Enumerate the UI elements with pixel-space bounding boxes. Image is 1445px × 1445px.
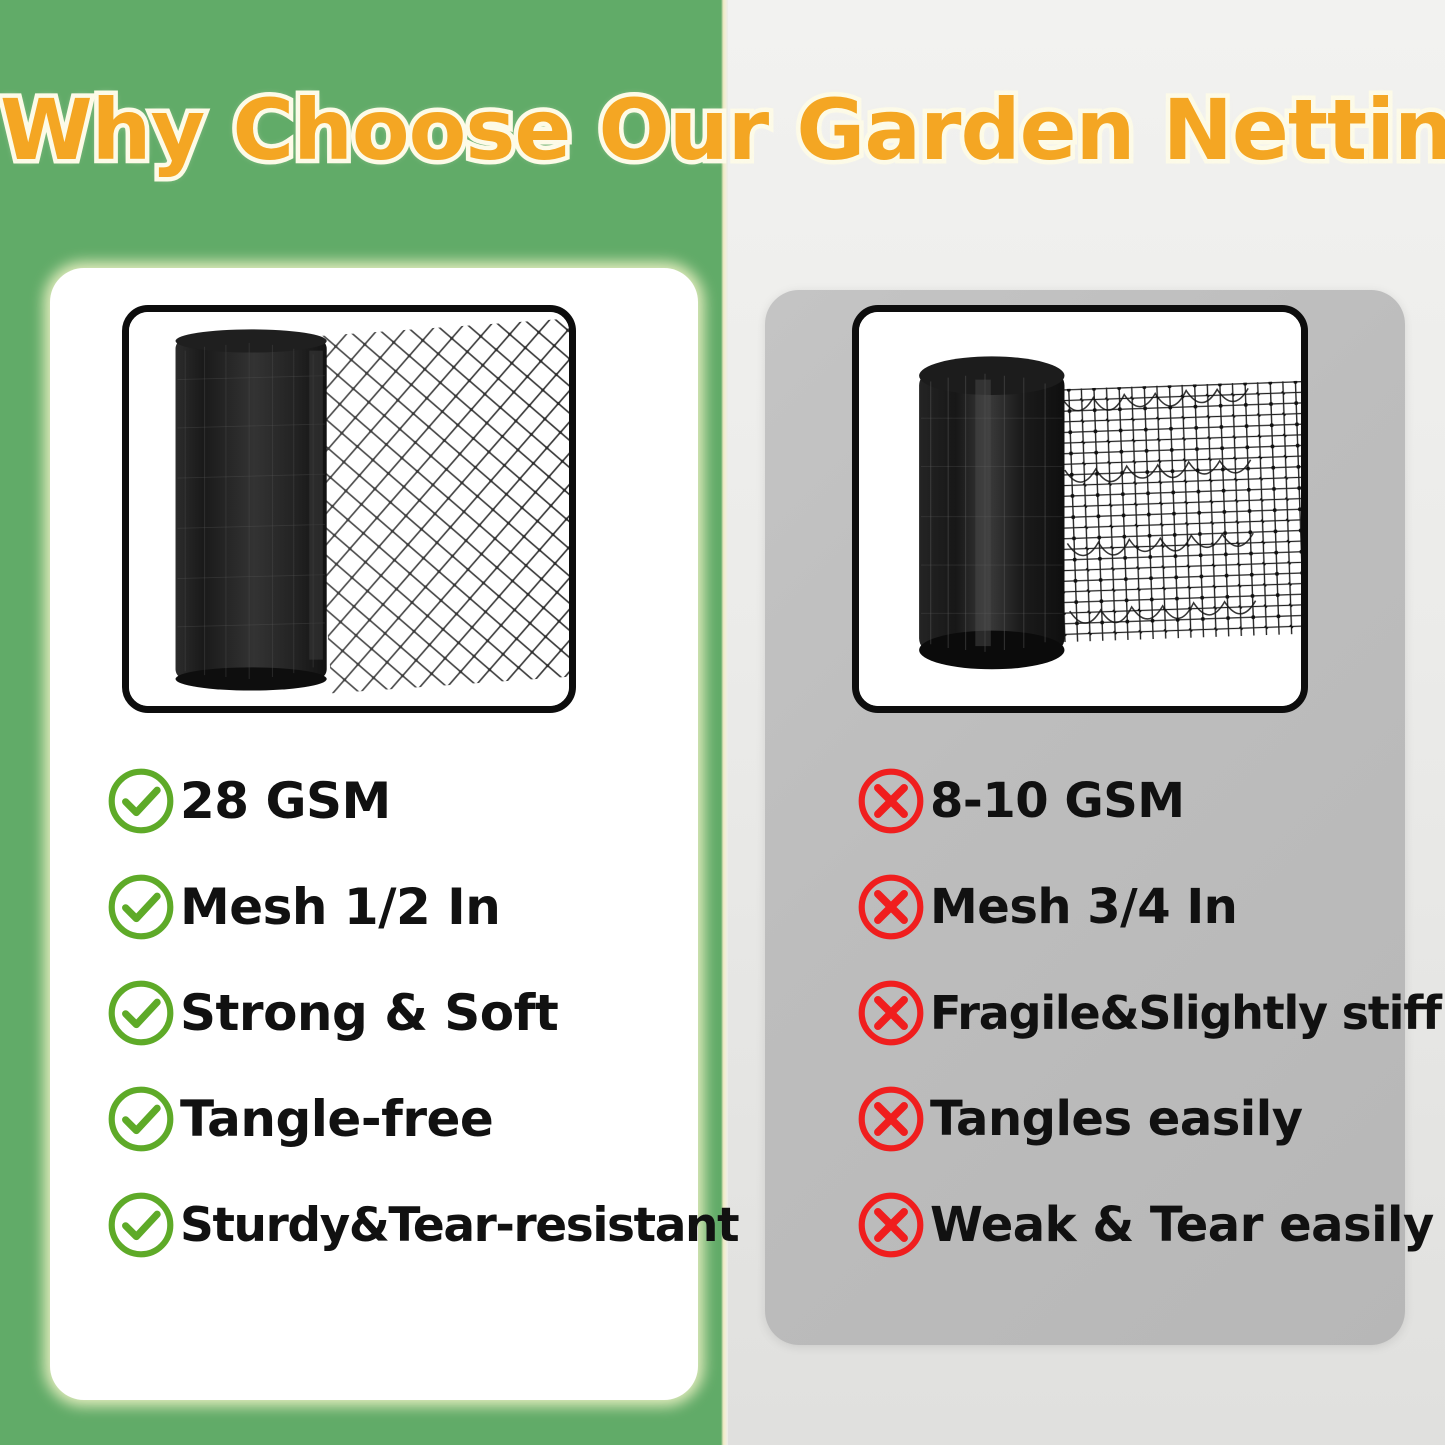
feature-label: Sturdy&Tear-resistant	[180, 1198, 738, 1253]
feature-label: Tangles easily	[930, 1091, 1302, 1147]
list-item: 8-10 GSM	[854, 748, 1414, 854]
check-circle-icon	[104, 870, 178, 944]
competitor-feature-list: 8-10 GSM Mesh 3/4 In Fragile&Slightly st…	[854, 748, 1414, 1278]
list-item: Tangle-free	[104, 1066, 704, 1172]
feature-label: Tangle-free	[180, 1090, 493, 1148]
our-product-feature-list: 28 GSM Mesh 1/2 In Strong & Soft Tangle-…	[104, 748, 704, 1278]
feature-label: Weak & Tear easily	[930, 1197, 1434, 1253]
check-circle-icon	[104, 1188, 178, 1262]
comparison-poster: Why Choose Our Garden Netting?	[0, 0, 1445, 1445]
cross-circle-icon	[854, 1188, 928, 1262]
cross-circle-icon	[854, 764, 928, 838]
feature-label: Fragile&Slightly stiff	[930, 986, 1441, 1040]
feature-label: Mesh 3/4 In	[930, 879, 1237, 935]
feature-label: 28 GSM	[180, 772, 391, 830]
competitor-product-netting-image	[859, 312, 1301, 706]
our-product-netting-image	[129, 312, 569, 706]
list-item: Weak & Tear easily	[854, 1172, 1414, 1278]
check-circle-icon	[104, 764, 178, 838]
list-item: Strong & Soft	[104, 960, 704, 1066]
page-title: Why Choose Our Garden Netting?	[0, 86, 1445, 175]
our-product-image-frame	[122, 305, 576, 713]
competitor-product-image-frame	[852, 305, 1308, 713]
list-item: Mesh 3/4 In	[854, 854, 1414, 960]
check-circle-icon	[104, 976, 178, 1050]
check-circle-icon	[104, 1082, 178, 1156]
feature-label: Strong & Soft	[180, 984, 558, 1042]
cross-circle-icon	[854, 976, 928, 1050]
feature-label: 8-10 GSM	[930, 773, 1185, 829]
list-item: 28 GSM	[104, 748, 704, 854]
list-item: Fragile&Slightly stiff	[854, 960, 1414, 1066]
feature-label: Mesh 1/2 In	[180, 878, 500, 936]
list-item: Sturdy&Tear-resistant	[104, 1172, 704, 1278]
list-item: Tangles easily	[854, 1066, 1414, 1172]
cross-circle-icon	[854, 870, 928, 944]
cross-circle-icon	[854, 1082, 928, 1156]
list-item: Mesh 1/2 In	[104, 854, 704, 960]
